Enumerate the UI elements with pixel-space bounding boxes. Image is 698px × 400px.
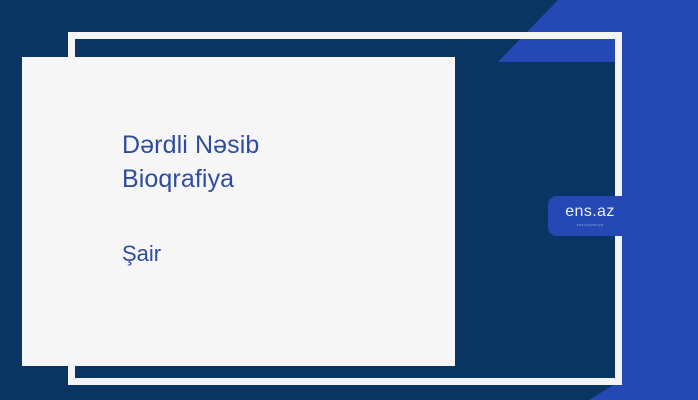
ensaz-wordmark: ens.az <box>565 204 615 220</box>
ensaz-tagline: ensiklopediya <box>577 222 604 228</box>
slide-canvas: Dərdli Nəsib Bioqrafiya Şair ens.az ensi… <box>0 0 698 400</box>
text-block: Dərdli Nəsib Bioqrafiya Şair <box>122 128 452 268</box>
page-subtitle: Şair <box>122 240 452 268</box>
accent-right-panel <box>622 0 698 400</box>
page-title: Dərdli Nəsib Bioqrafiya <box>122 128 452 196</box>
ensaz-logo-badge[interactable]: ens.az ensiklopediya <box>548 196 632 236</box>
